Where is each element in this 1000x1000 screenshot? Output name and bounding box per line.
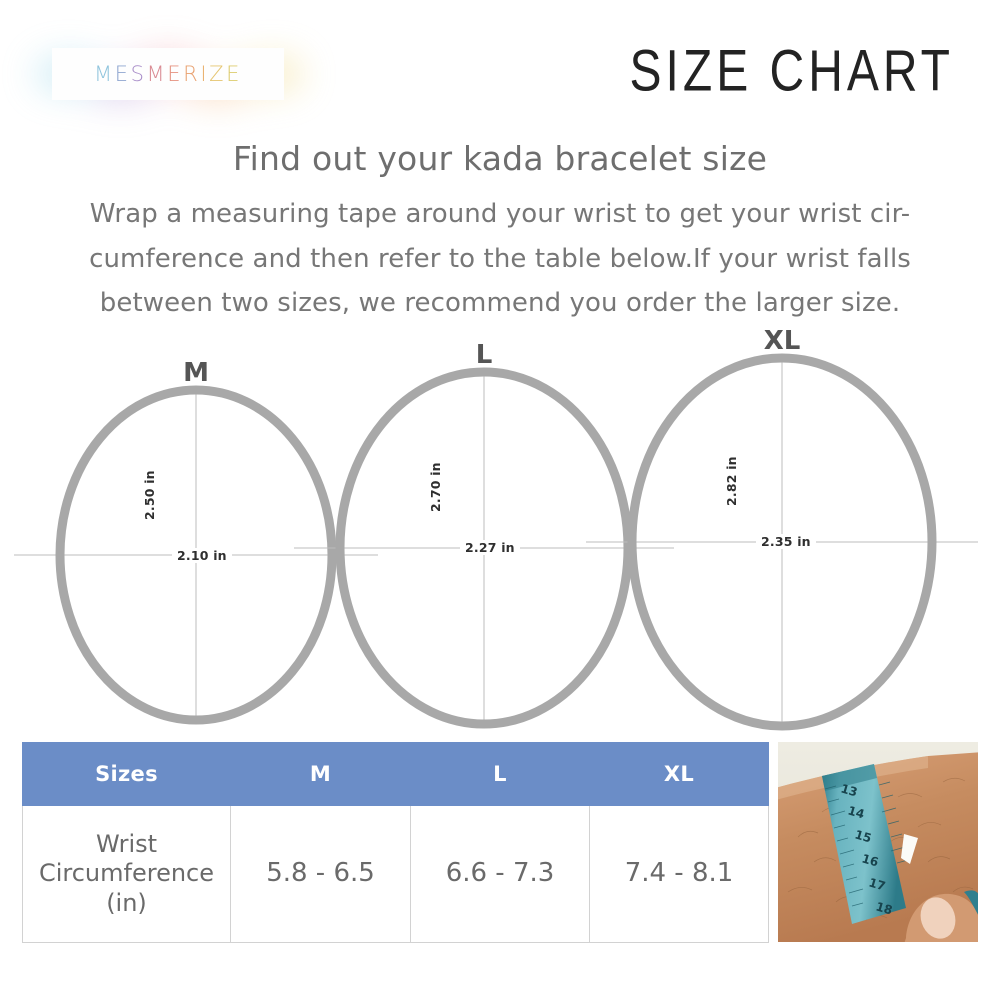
table-header-sizes: Sizes [23,743,231,806]
brand-letter-8: E [226,62,242,86]
wrist-photo-illustration: 13 14 15 16 17 18 [778,742,978,942]
wrist-measuring-photo: 13 14 15 16 17 18 [778,742,978,942]
oval-diagram-xl: XL2.82 in2.35 in [0,340,1000,740]
intro-line-3: between two sizes, we recommend you orde… [0,281,1000,326]
intro-line-1: Wrap a measuring tape around your wrist … [0,192,1000,237]
oval-width-label-xl: 2.35 in [756,534,816,549]
intro-heading: Find out your kada bracelet size [0,140,1000,178]
cell-wrist-m: 5.8 - 6.5 [231,806,411,943]
brand-letter-0: M [94,62,115,86]
cell-wrist-l: 6.6 - 7.3 [411,806,590,943]
brand-letter-3: M [147,62,168,86]
brand-letter-6: I [200,62,209,86]
brand-letter-5: R [183,62,200,86]
brand-logo: MESMERIZE [52,48,284,100]
page-title: SIZE CHART [630,43,954,102]
oval-shape-xl [0,340,1000,740]
brand-letter-4: E [167,62,183,86]
row-label-line-1: Wrist [24,830,229,859]
intro-section: Find out your kada bracelet size Wrap a … [0,140,1000,326]
intro-line-2: cumference and then refer to the table b… [0,237,1000,282]
page-header: MESMERIZE SIZE CHART [0,0,1000,130]
cell-wrist-xl: 7.4 - 8.1 [590,806,769,943]
size-diagram-group: M2.50 in2.10 inL2.70 in2.27 inXL2.82 in2… [0,340,1000,740]
oval-height-label-xl: 2.82 in [724,456,739,506]
row-label-line-3: (in) [24,889,229,918]
brand-letter-2: S [131,62,147,86]
brand-logo-text: MESMERIZE [52,48,284,100]
table-header-row: Sizes M L XL [23,743,769,806]
row-label-wrist-circumference: Wrist Circumference (in) [23,806,231,943]
table-header-xl: XL [590,743,769,806]
table-header-l: L [411,743,590,806]
row-label-line-2: Circumference [24,859,229,888]
brand-letter-1: E [115,62,131,86]
table-header-m: M [231,743,411,806]
size-table: Sizes M L XL Wrist Circumference (in) 5.… [22,742,769,943]
brand-letter-7: Z [209,62,226,86]
table-row: Wrist Circumference (in) 5.8 - 6.5 6.6 -… [23,806,769,943]
